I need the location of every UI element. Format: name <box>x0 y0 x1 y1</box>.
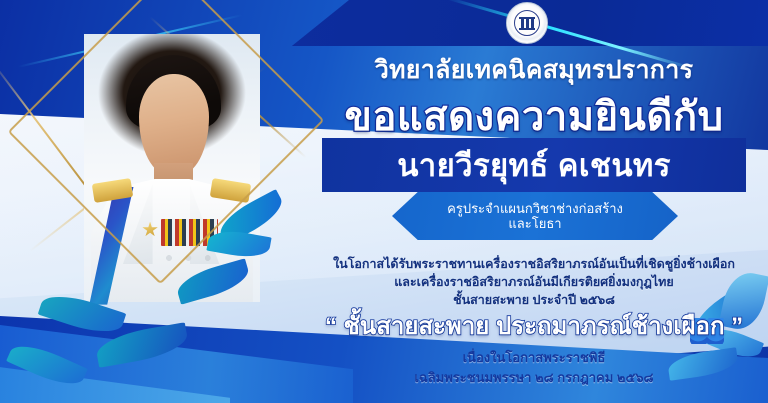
citation-line-1: ในโอกาสได้รับพระราชทานเครื่องราชอิสริยาภ… <box>300 256 768 274</box>
occasion-line-1: เนื่องในโอกาสพระราชพิธี <box>300 348 768 368</box>
honoree-name-bar: นายวีรยุทธ์ คเชนทร <box>322 138 746 192</box>
citation-body: ในโอกาสได้รับพระราชทานเครื่องราชอิสริยาภ… <box>300 256 768 309</box>
decoration-class-quote: “ ชั้นสายสะพาย ประถมาภรณ์ช้างเผือก ” <box>300 306 768 345</box>
honoree-name: นายวีรยุทธ์ คเชนทร <box>397 140 671 190</box>
occasion-line-2: เฉลิมพระชนมพรรษา ๒๘ กรกฎาคม ๒๕๖๘ <box>300 368 768 388</box>
congratulation-banner: วิทยาลัยเทคนิคสมุทรปราการ ขอแสดงความยินด… <box>0 0 768 403</box>
banner-content: วิทยาลัยเทคนิคสมุทรปราการ ขอแสดงความยินด… <box>300 0 768 403</box>
occasion-footer: เนื่องในโอกาสพระราชพิธี เฉลิมพระชนมพรรษา… <box>300 348 768 387</box>
honoree-role-line-1: ครูประจำแผนกวิชาช่างก่อสร้าง <box>447 201 623 216</box>
portrait-face <box>139 74 209 176</box>
citation-line-2: และเครื่องราชอิสริยาภรณ์อันมีเกียรติยศยิ… <box>300 274 768 292</box>
honoree-role-hexagon: ครูประจำแผนกวิชาช่างก่อสร้าง และโยธา <box>392 192 678 240</box>
honoree-role-line-2: และโยธา <box>508 216 561 231</box>
